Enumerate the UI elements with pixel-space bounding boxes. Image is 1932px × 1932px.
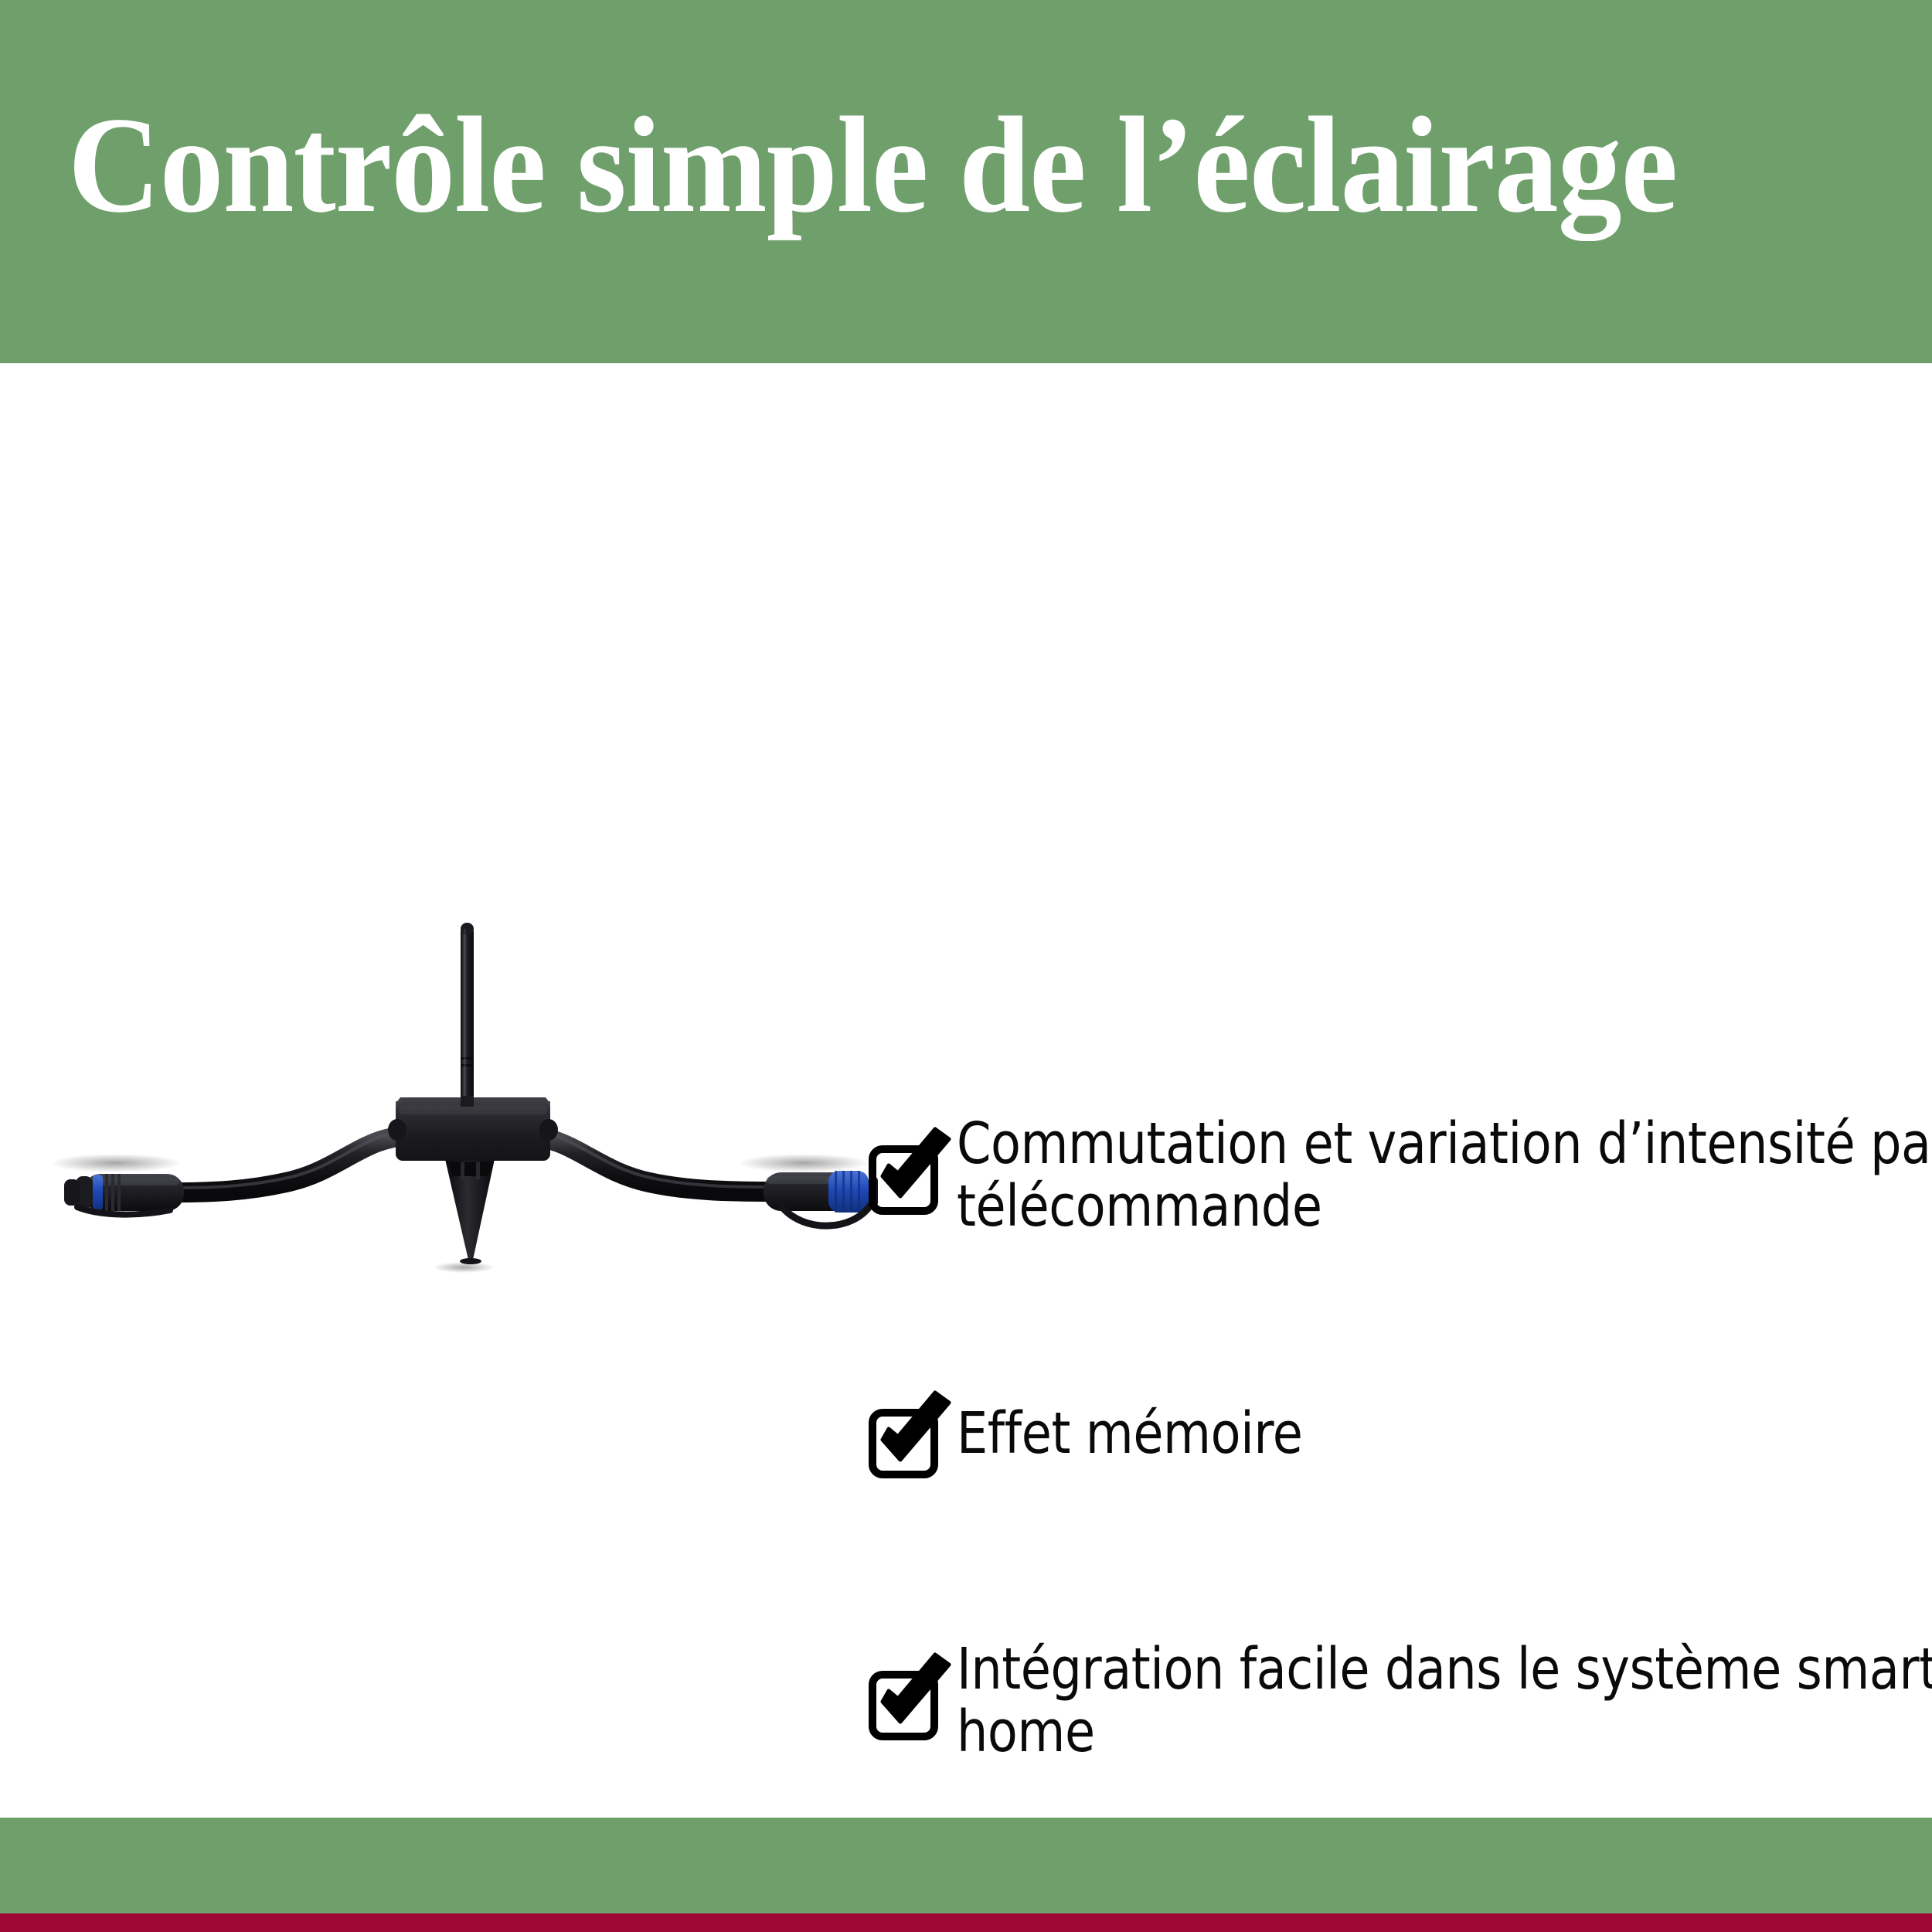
footer-red-bar (0, 1913, 1932, 1932)
product-photo-garden-spike-controller (31, 904, 912, 1306)
checkbox-checked-icon (872, 1142, 943, 1213)
header-banner: Contrôle simple de l’éclairage (0, 0, 1932, 363)
feature-label: Commutation et variation d’intensité par… (957, 1113, 1932, 1239)
content-area: Commutation et variation d’intensité par… (0, 363, 1932, 1913)
footer-green-bar (0, 1818, 1932, 1913)
checkbox-checked-icon (872, 1406, 943, 1477)
page-title: Contrôle simple de l’éclairage (68, 96, 1649, 233)
feature-item: Intégration facile dans le système smart… (872, 1638, 1932, 1764)
checkbox-checked-icon (872, 1668, 943, 1739)
feature-label: Intégration facile dans le système smart… (957, 1638, 1932, 1764)
feature-item: Effet mémoire (872, 1403, 1932, 1477)
feature-item: Commutation et variation d’intensité par… (872, 1113, 1932, 1239)
feature-label: Effet mémoire (957, 1403, 1932, 1465)
